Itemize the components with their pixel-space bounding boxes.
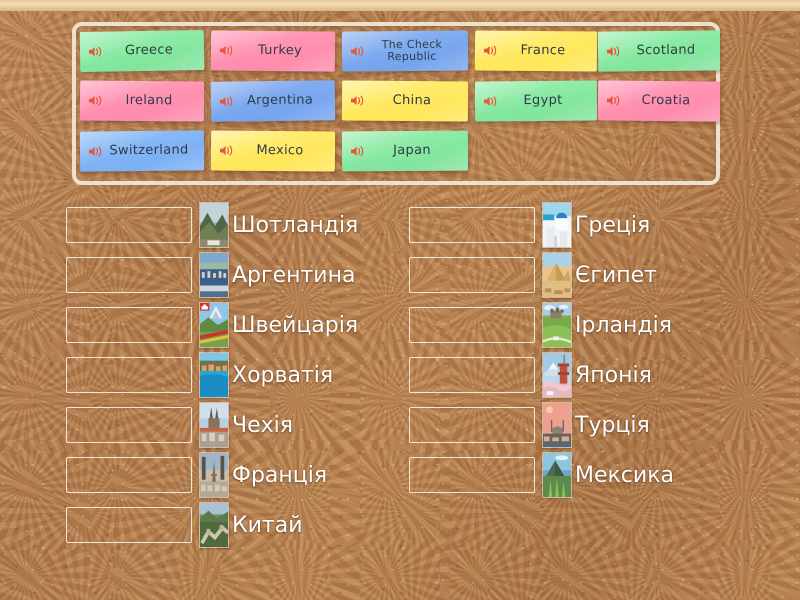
answer-label: Греція [575, 213, 650, 238]
match-row: Чехія [66, 400, 358, 450]
top-wood-strip [0, 0, 800, 11]
speaker-icon[interactable] [606, 44, 622, 58]
drop-zone[interactable] [409, 407, 535, 443]
tile-row: GreeceTurkeyThe CheckRepublicFranceScotl… [80, 31, 720, 75]
speaker-icon[interactable] [350, 94, 366, 108]
word-tile-croatia[interactable]: Croatia [598, 80, 720, 121]
turkey-photo-thumbnail [542, 402, 572, 448]
cork-board-background: GreeceTurkeyThe CheckRepublicFranceScotl… [0, 0, 800, 600]
word-tile-label: China [366, 93, 462, 108]
answer-label: Мексика [575, 463, 674, 488]
word-tile-label: Turkey [235, 43, 329, 59]
match-row: Шотландія [66, 200, 358, 250]
speaker-icon[interactable] [350, 144, 366, 158]
word-tile-china[interactable]: China [342, 80, 468, 121]
greece-photo-thumbnail [542, 202, 572, 248]
word-tile-scotland[interactable]: Scotland [598, 30, 720, 71]
drop-zone[interactable] [409, 307, 535, 343]
match-row: Китай [66, 500, 358, 550]
word-tile-the-check-republic[interactable]: The CheckRepublic [342, 30, 468, 71]
word-tile-label: Ireland [104, 93, 198, 108]
match-row: Японія [409, 350, 674, 400]
croatia-photo-thumbnail [199, 352, 229, 398]
answer-label: Японія [575, 363, 652, 388]
drop-zone[interactable] [66, 507, 192, 543]
match-row: Єгипет [409, 250, 674, 300]
answer-label: Франція [232, 463, 327, 488]
match-row: Мексика [409, 450, 674, 500]
word-tile-label: Croatia [622, 93, 714, 109]
word-tile-label: France [499, 43, 591, 58]
answer-label: Швейцарія [232, 313, 358, 338]
switzerland-photo-thumbnail [199, 302, 229, 348]
drop-zone[interactable] [66, 457, 192, 493]
match-row: Франція [66, 450, 358, 500]
tile-row: IrelandArgentinaChinaEgyptCroatia [80, 81, 720, 125]
match-row: Аргентина [66, 250, 358, 300]
argentina-photo-thumbnail [199, 252, 229, 298]
answer-column-left: ШотландіяАргентинаШвейцаріяХорватіяЧехія… [66, 200, 358, 550]
scotland-photo-thumbnail [199, 202, 229, 248]
japan-photo-thumbnail [542, 352, 572, 398]
word-tile-egypt[interactable]: Egypt [475, 80, 597, 121]
answer-column-right: ГреціяЄгипетІрландіяЯпоніяТурціяМексика [409, 200, 674, 500]
answer-label: Шотландія [232, 213, 358, 238]
speaker-icon[interactable] [483, 44, 499, 58]
word-tile-mexico[interactable]: Mexico [211, 130, 335, 171]
word-tile-label: Japan [366, 143, 462, 158]
word-tile-turkey[interactable]: Turkey [211, 30, 335, 71]
word-tile-tray: GreeceTurkeyThe CheckRepublicFranceScotl… [72, 22, 720, 185]
match-row: Греція [409, 200, 674, 250]
speaker-icon[interactable] [606, 93, 622, 107]
speaker-icon[interactable] [88, 94, 104, 108]
word-tile-switzerland[interactable]: Switzerland [80, 130, 204, 171]
drop-zone[interactable] [66, 207, 192, 243]
match-row: Швейцарія [66, 300, 358, 350]
word-tile-label: Argentina [235, 93, 329, 109]
answer-label: Турція [575, 413, 650, 438]
drop-zone[interactable] [409, 207, 535, 243]
word-tile-label: The CheckRepublic [366, 38, 462, 63]
word-tile-japan[interactable]: Japan [342, 131, 468, 172]
match-row: Ірландія [409, 300, 674, 350]
drop-zone[interactable] [409, 357, 535, 393]
speaker-icon[interactable] [88, 144, 104, 158]
match-row: Турція [409, 400, 674, 450]
word-tile-label: Scotland [622, 43, 714, 59]
answer-label: Ірландія [575, 313, 672, 338]
word-tile-ireland[interactable]: Ireland [80, 80, 204, 121]
answer-label: Китай [232, 513, 303, 538]
tile-row: SwitzerlandMexicoJapan [80, 131, 720, 175]
word-tile-label: Switzerland [104, 143, 198, 159]
drop-zone[interactable] [66, 257, 192, 293]
speaker-icon[interactable] [88, 45, 104, 59]
ireland-photo-thumbnail [542, 302, 572, 348]
word-tile-label: Mexico [235, 143, 329, 158]
china-photo-thumbnail [199, 502, 229, 548]
speaker-icon[interactable] [219, 144, 235, 158]
drop-zone[interactable] [66, 407, 192, 443]
drop-zone[interactable] [66, 307, 192, 343]
word-tile-label: Greece [104, 43, 198, 59]
answer-label: Єгипет [575, 263, 657, 288]
speaker-icon[interactable] [219, 94, 235, 108]
match-row: Хорватія [66, 350, 358, 400]
speaker-icon[interactable] [483, 94, 499, 108]
czechia-photo-thumbnail [199, 402, 229, 448]
word-tile-argentina[interactable]: Argentina [211, 80, 335, 122]
speaker-icon[interactable] [219, 43, 235, 57]
speaker-icon[interactable] [350, 44, 366, 58]
france-photo-thumbnail [199, 452, 229, 498]
egypt-photo-thumbnail [542, 252, 572, 298]
drop-zone[interactable] [409, 457, 535, 493]
mexico-photo-thumbnail [542, 452, 572, 498]
answer-label: Хорватія [232, 363, 333, 388]
drop-zone[interactable] [409, 257, 535, 293]
answer-label: Аргентина [232, 263, 355, 288]
word-tile-france[interactable]: France [475, 30, 597, 71]
answer-label: Чехія [232, 413, 293, 438]
drop-zone[interactable] [66, 357, 192, 393]
word-tile-greece[interactable]: Greece [80, 30, 205, 72]
word-tile-label: Egypt [499, 93, 591, 108]
